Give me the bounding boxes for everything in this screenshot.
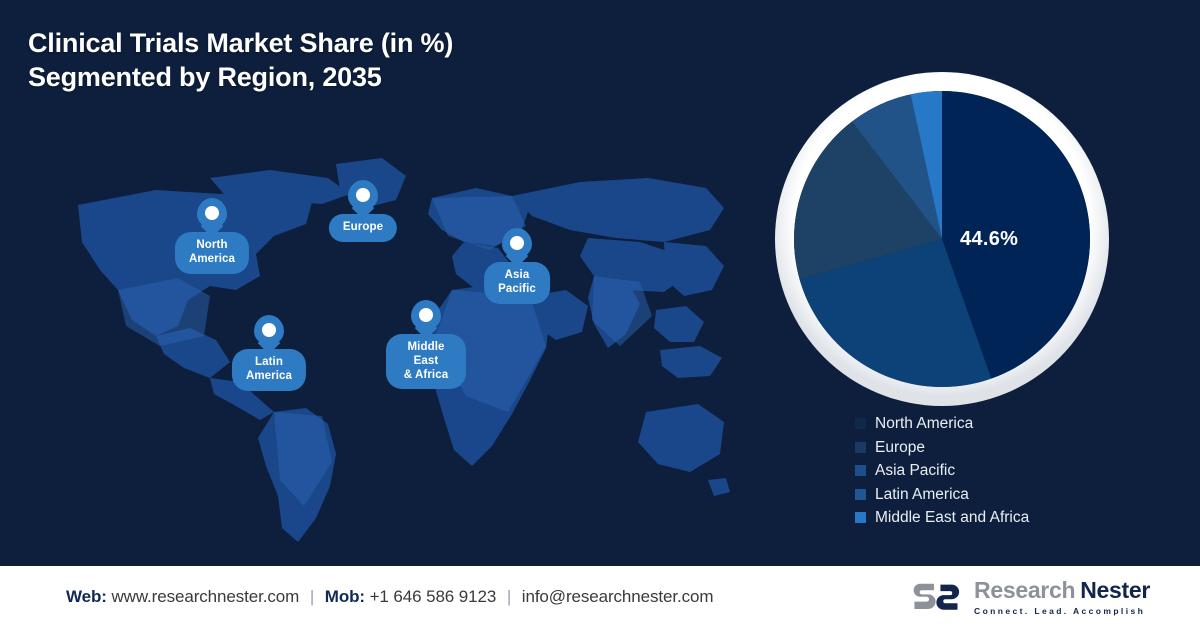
map-pin-icon bbox=[502, 228, 532, 258]
legend-label: Europe bbox=[875, 440, 925, 456]
pie-chart bbox=[768, 72, 1116, 420]
logo-main-text: ResearchNester bbox=[974, 579, 1150, 602]
map-pin-icon bbox=[411, 300, 441, 330]
legend-label: North America bbox=[875, 416, 973, 432]
logo-tagline: Connect. Lead. Accomplish bbox=[974, 607, 1150, 616]
footer-email-value[interactable]: info@researchnester.com bbox=[522, 587, 714, 606]
chart-legend: North America Europe Asia Pacific Latin … bbox=[855, 412, 1029, 530]
footer-separator: | bbox=[310, 587, 314, 606]
world-map: North America Europe Asia Pacific Latin … bbox=[60, 150, 740, 550]
footer-web-value[interactable]: www.researchnester.com bbox=[111, 587, 299, 606]
infographic-canvas: Clinical Trials Market Share (in %) Segm… bbox=[0, 0, 1200, 628]
pie-slice-value-north-america: 44.6% bbox=[960, 228, 1018, 251]
page-title: Clinical Trials Market Share (in %) Segm… bbox=[28, 26, 453, 95]
map-pin-icon bbox=[254, 315, 284, 345]
map-pin-label-latin-america: Latin America bbox=[232, 349, 306, 391]
legend-item-europe[interactable]: Europe bbox=[855, 436, 1029, 460]
footer-separator: | bbox=[507, 587, 511, 606]
legend-swatch-icon bbox=[855, 489, 866, 500]
legend-label: Middle East and Africa bbox=[875, 510, 1029, 526]
logo-wordmark: ResearchNester Connect. Lead. Accomplish bbox=[974, 579, 1150, 616]
pie-slices bbox=[794, 91, 1090, 387]
title-line-1: Clinical Trials Market Share (in %) bbox=[28, 28, 453, 58]
logo-word-research: Research bbox=[974, 577, 1075, 603]
logo-mark-icon bbox=[912, 580, 964, 614]
legend-item-latin-america[interactable]: Latin America bbox=[855, 483, 1029, 507]
legend-swatch-icon bbox=[855, 512, 866, 523]
legend-label: Asia Pacific bbox=[875, 463, 955, 479]
title-line-2: Segmented by Region, 2035 bbox=[28, 60, 453, 94]
footer-contact-line: Web: www.researchnester.com | Mob: +1 64… bbox=[66, 587, 713, 607]
logo-word-nester: Nester bbox=[1080, 577, 1150, 603]
research-nester-logo[interactable]: ResearchNester Connect. Lead. Accomplish bbox=[912, 579, 1150, 616]
footer-mob-value[interactable]: +1 646 586 9123 bbox=[370, 587, 497, 606]
legend-swatch-icon bbox=[855, 465, 866, 476]
map-pin-label-asia-pacific: Asia Pacific bbox=[484, 262, 550, 304]
legend-item-middle-east-and-africa[interactable]: Middle East and Africa bbox=[855, 506, 1029, 530]
pie-chart-svg bbox=[768, 72, 1116, 420]
legend-swatch-icon bbox=[855, 418, 866, 429]
map-pin-label-north-america: North America bbox=[175, 232, 249, 274]
map-pin-label-europe: Europe bbox=[329, 214, 397, 242]
footer-mob-label: Mob: bbox=[325, 587, 365, 606]
footer-bar: Web: www.researchnester.com | Mob: +1 64… bbox=[0, 566, 1200, 628]
map-pin-icon bbox=[348, 180, 378, 210]
legend-label: Latin America bbox=[875, 487, 969, 503]
map-pin-icon bbox=[197, 198, 227, 228]
legend-swatch-icon bbox=[855, 442, 866, 453]
legend-item-asia-pacific[interactable]: Asia Pacific bbox=[855, 459, 1029, 483]
legend-item-north-america[interactable]: North America bbox=[855, 412, 1029, 436]
map-pin-label-middle-east-africa: Middle East & Africa bbox=[386, 334, 466, 389]
footer-web-label: Web: bbox=[66, 587, 107, 606]
